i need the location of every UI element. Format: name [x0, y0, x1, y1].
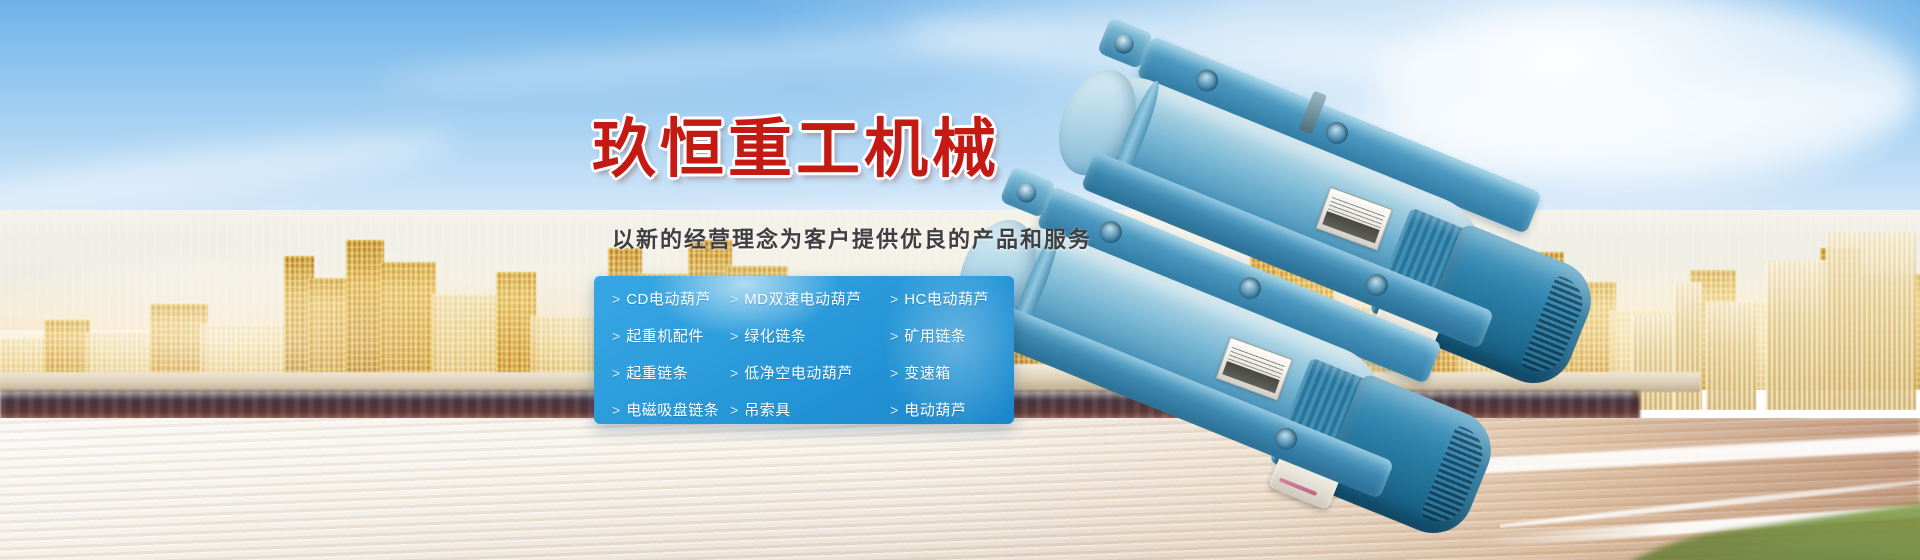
category-label: 电磁吸盘链条: [626, 399, 719, 420]
category-label: 起重链条: [626, 362, 688, 383]
category-label: HC电动葫芦: [904, 288, 989, 309]
product-electric-hoists: [1040, 60, 1920, 430]
product-category-panel: > CD电动葫芦 > MD双速电动葫芦 > HC电动葫芦 > 起重机配件 > 绿…: [594, 276, 1014, 424]
beam-hole: [1193, 66, 1222, 95]
category-link-lifting-slings[interactable]: > 吊索具: [730, 391, 890, 424]
building: [380, 262, 436, 390]
chevron-right-icon: >: [730, 365, 738, 381]
category-label: 变速箱: [904, 362, 951, 383]
building: [346, 240, 384, 390]
chevron-right-icon: >: [612, 365, 620, 381]
category-link-lifting-chain[interactable]: > 起重链条: [612, 354, 730, 391]
chevron-right-icon: >: [612, 402, 620, 418]
category-label: 吊索具: [744, 399, 791, 420]
beam-hole: [1272, 425, 1301, 454]
chevron-right-icon: >: [890, 365, 898, 381]
category-link-mining-chain[interactable]: > 矿用链条: [890, 317, 1014, 354]
chevron-right-icon: >: [612, 328, 620, 344]
chevron-right-icon: >: [612, 291, 620, 307]
chevron-right-icon: >: [730, 328, 738, 344]
category-link-low-headroom-hoist[interactable]: > 低净空电动葫芦: [730, 354, 890, 391]
motor-fan-grill: [1520, 275, 1590, 379]
category-label: 绿化链条: [744, 325, 806, 346]
banner-title: 玖恒重工机械: [592, 118, 1000, 182]
category-label: CD电动葫芦: [626, 288, 711, 309]
category-label: 电动葫芦: [904, 399, 966, 420]
category-link-md-dual-speed-hoist[interactable]: > MD双速电动葫芦: [730, 280, 890, 317]
chevron-right-icon: >: [890, 402, 898, 418]
category-link-magnetic-chuck-chain[interactable]: > 电磁吸盘链条: [612, 391, 730, 424]
category-label: MD双速电动葫芦: [744, 288, 861, 309]
category-link-hc-electric-hoist[interactable]: > HC电动葫芦: [890, 280, 1014, 317]
promo-banner: 玖恒重工机械 以新的经营理念为客户提供优良的产品和服务 > CD电动葫芦 > M…: [0, 0, 1920, 560]
banner-subtitle: 以新的经营理念为客户提供优良的产品和服务: [612, 222, 1092, 254]
category-label: 矿用链条: [904, 325, 966, 346]
chevron-right-icon: >: [890, 291, 898, 307]
beam-hole: [1363, 271, 1392, 300]
category-link-greening-chain[interactable]: > 绿化链条: [730, 317, 890, 354]
beam-hole: [1323, 119, 1352, 148]
category-link-cd-electric-hoist[interactable]: > CD电动葫芦: [612, 280, 730, 317]
chevron-right-icon: >: [730, 291, 738, 307]
cloud-icon: [380, 16, 1061, 101]
category-link-gearbox[interactable]: > 变速箱: [890, 354, 1014, 391]
chevron-right-icon: >: [730, 402, 738, 418]
category-link-crane-parts[interactable]: > 起重机配件: [612, 317, 730, 354]
category-label: 起重机配件: [626, 325, 704, 346]
beam-hole: [1236, 274, 1265, 303]
product-category-list: > CD电动葫芦 > MD双速电动葫芦 > HC电动葫芦 > 起重机配件 > 绿…: [594, 276, 1014, 424]
category-link-electric-hoist[interactable]: > 电动葫芦: [890, 391, 1014, 424]
category-label: 低净空电动葫芦: [744, 362, 853, 383]
chevron-right-icon: >: [890, 328, 898, 344]
beam-hole: [1096, 218, 1125, 247]
